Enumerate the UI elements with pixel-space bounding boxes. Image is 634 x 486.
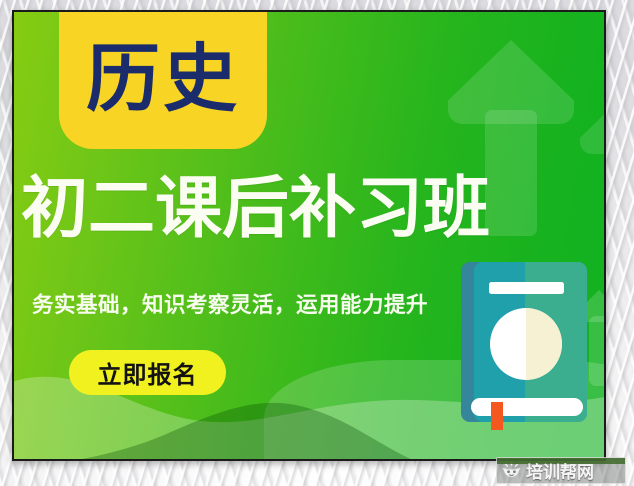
screenshot-canvas: 历史 初二课后补习班 务实基础，知识考察灵活，运用能力提升 立即报名 [0, 0, 634, 486]
arrow-head [448, 40, 574, 124]
arrow-head [580, 96, 604, 154]
book-pages [471, 398, 583, 416]
register-now-label: 立即报名 [98, 355, 198, 390]
textbook-illustration [461, 262, 587, 430]
banner-frame: 历史 初二课后补习班 务实基础，知识考察灵活，运用能力提升 立即报名 [12, 10, 606, 461]
subject-badge: 历史 [59, 12, 267, 149]
promo-banner: 历史 初二课后补习班 务实基础，知识考察灵活，运用能力提升 立即报名 [14, 12, 604, 459]
watermark: 培训帮网 [496, 457, 626, 484]
banner-headline: 初二课后补习班 [21, 174, 604, 242]
banner-subtitle: 务实基础，知识考察灵活，运用能力提升 [32, 288, 428, 319]
register-now-button[interactable]: 立即报名 [69, 350, 226, 395]
book-title-bar [489, 282, 564, 294]
subject-badge-label: 历史 [86, 42, 240, 120]
watermark-text: 培训帮网 [526, 458, 594, 483]
